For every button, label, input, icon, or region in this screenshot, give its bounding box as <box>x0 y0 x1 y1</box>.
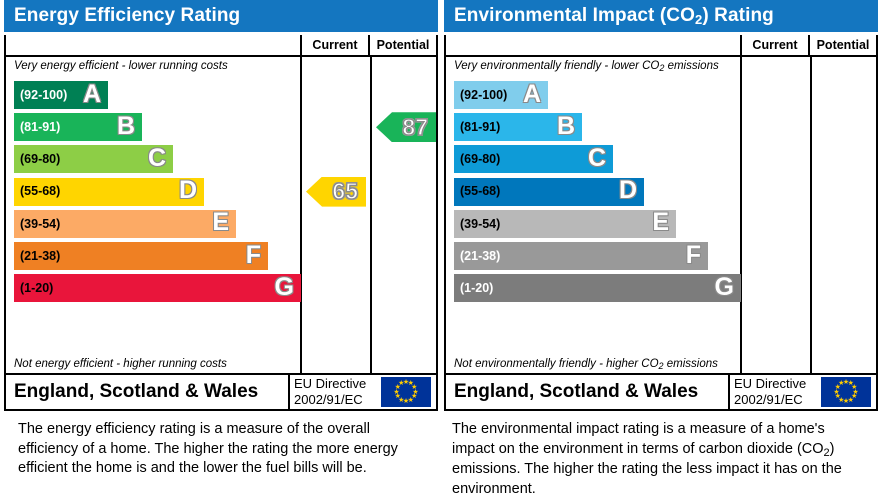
energy-footer-region: England, Scotland & Wales <box>6 375 288 409</box>
energy-chart-table: Current Potential Very energy efficient … <box>4 35 438 411</box>
co2-caption-bottom-subscript: 2 <box>659 361 664 371</box>
energy-efficiency-chart: Energy Efficiency Rating Current Potenti… <box>4 0 438 411</box>
co2-column-divider-1 <box>740 57 742 373</box>
energy-band-letter-e: E <box>212 210 231 235</box>
co2-band-range-b: (81-91) <box>460 121 500 134</box>
energy-chart-title: Energy Efficiency Rating <box>14 5 240 26</box>
energy-footer: England, Scotland & Wales EU Directive 2… <box>6 373 436 409</box>
co2-description-subscript: 2 <box>824 447 830 459</box>
energy-band-letter-c: C <box>148 146 168 171</box>
co2-band-d: (55-68)D <box>454 178 644 206</box>
co2-footer: England, Scotland & Wales EU Directive 2… <box>446 373 876 409</box>
co2-description: The environmental impact rating is a mea… <box>452 420 852 493</box>
co2-band-area: Very environmentally friendly - lower CO… <box>446 57 876 373</box>
energy-band-range-e: (39-54) <box>20 218 60 231</box>
energy-band-c: (69-80)C <box>14 145 173 173</box>
co2-directive-line-1: EU Directive <box>734 376 820 392</box>
energy-header-spacer <box>6 35 300 55</box>
energy-current-rating-arrow: 65 <box>306 177 366 207</box>
co2-caption-top-post: emissions <box>664 60 718 72</box>
energy-band-range-c: (69-80) <box>20 153 60 166</box>
energy-band-a: (92-100)A <box>14 81 108 109</box>
energy-column-headers: Current Potential <box>6 35 436 57</box>
energy-band-range-a: (92-100) <box>20 89 67 102</box>
energy-eu-flag-cell: ★★★★★★★★★★★★ <box>380 375 436 409</box>
co2-caption-bottom-pre: Not environmentally friendly - higher CO <box>454 358 659 370</box>
co2-caption-top-subscript: 2 <box>659 63 664 73</box>
co2-band-e: (39-54)E <box>454 210 676 238</box>
energy-band-range-g: (1-20) <box>20 282 53 295</box>
co2-caption-bottom: Not environmentally friendly - higher CO… <box>454 358 718 370</box>
energy-column-divider-2 <box>370 57 372 373</box>
energy-footer-directive: EU Directive 2002/91/EC <box>288 375 380 409</box>
co2-column-divider-2 <box>810 57 812 373</box>
energy-band-letter-d: D <box>179 178 199 203</box>
co2-band-range-g: (1-20) <box>460 282 493 295</box>
co2-caption-top-pre: Very environmentally friendly - lower CO <box>454 60 659 72</box>
energy-band-letter-b: B <box>117 114 137 139</box>
energy-band-e: (39-54)E <box>14 210 236 238</box>
co2-chart-header: Environmental Impact (CO2) Rating <box>444 0 878 32</box>
energy-description: The energy efficiency rating is a measur… <box>18 420 418 479</box>
energy-band-f: (21-38)F <box>14 242 268 270</box>
energy-caption-top: Very energy efficient - lower running co… <box>14 60 228 72</box>
co2-band-range-a: (92-100) <box>460 89 507 102</box>
energy-directive-line-1: EU Directive <box>294 376 380 392</box>
energy-current-column-header: Current <box>300 35 368 55</box>
co2-band-b: (81-91)B <box>454 113 582 141</box>
energy-band-letter-a: A <box>83 82 103 107</box>
energy-band-letter-g: G <box>275 275 296 300</box>
co2-band-letter-c: C <box>588 146 608 171</box>
energy-band-range-b: (81-91) <box>20 121 60 134</box>
energy-column-divider-1 <box>300 57 302 373</box>
co2-caption-bottom-post: emissions <box>664 358 718 370</box>
co2-band-range-c: (69-80) <box>460 153 500 166</box>
co2-column-headers: Current Potential <box>446 35 876 57</box>
energy-band-area: Very energy efficient - lower running co… <box>6 57 436 373</box>
eu-flag-icon: ★★★★★★★★★★★★ <box>821 377 871 407</box>
co2-eu-flag-cell: ★★★★★★★★★★★★ <box>820 375 876 409</box>
co2-header-spacer <box>446 35 740 55</box>
co2-directive-line-2: 2002/91/EC <box>734 392 820 408</box>
co2-band-range-d: (55-68) <box>460 185 500 198</box>
co2-chart-title-pre: Environmental Impact (CO <box>454 5 695 26</box>
energy-potential-rating-value: 87 <box>402 114 428 141</box>
co2-band-letter-d: D <box>619 178 639 203</box>
co2-chart-table: Current Potential Very environmentally f… <box>444 35 878 411</box>
co2-band-letter-b: B <box>557 114 577 139</box>
energy-caption-bottom: Not energy efficient - higher running co… <box>14 358 227 370</box>
energy-current-rating-value: 65 <box>332 178 358 205</box>
eu-flag-star: ★ <box>398 380 405 387</box>
co2-band-letter-f: F <box>686 243 703 268</box>
energy-directive-line-2: 2002/91/EC <box>294 392 380 408</box>
energy-band-range-d: (55-68) <box>20 185 60 198</box>
epc-chart-page: Energy Efficiency Rating Current Potenti… <box>0 0 880 493</box>
energy-potential-column-header: Potential <box>368 35 436 55</box>
energy-band-range-f: (21-38) <box>20 250 60 263</box>
co2-potential-column-header: Potential <box>808 35 876 55</box>
co2-band-letter-e: E <box>652 210 671 235</box>
energy-band-b: (81-91)B <box>14 113 142 141</box>
co2-band-letter-g: G <box>715 275 736 300</box>
energy-potential-rating-arrow: 87 <box>376 112 436 142</box>
co2-description-pre: The environmental impact rating is a mea… <box>452 421 825 457</box>
co2-band-a: (92-100)A <box>454 81 548 109</box>
co2-footer-directive: EU Directive 2002/91/EC <box>728 375 820 409</box>
co2-chart-title-subscript: 2 <box>695 12 702 27</box>
environmental-impact-chart: Environmental Impact (CO2) Rating Curren… <box>444 0 878 411</box>
co2-band-letter-a: A <box>523 82 543 107</box>
energy-chart-header: Energy Efficiency Rating <box>4 0 438 32</box>
co2-current-column-header: Current <box>740 35 808 55</box>
energy-band-letter-f: F <box>246 243 263 268</box>
energy-band-d: (55-68)D <box>14 178 204 206</box>
co2-band-f: (21-38)F <box>454 242 708 270</box>
co2-footer-region: England, Scotland & Wales <box>446 375 728 409</box>
eu-flag-star: ★ <box>838 380 845 387</box>
co2-band-range-f: (21-38) <box>460 250 500 263</box>
eu-flag-icon: ★★★★★★★★★★★★ <box>381 377 431 407</box>
co2-band-c: (69-80)C <box>454 145 613 173</box>
co2-band-range-e: (39-54) <box>460 218 500 231</box>
co2-caption-top: Very environmentally friendly - lower CO… <box>454 60 719 72</box>
co2-chart-title-post: ) Rating <box>702 5 774 26</box>
co2-band-g: (1-20)G <box>454 274 741 302</box>
energy-band-g: (1-20)G <box>14 274 301 302</box>
